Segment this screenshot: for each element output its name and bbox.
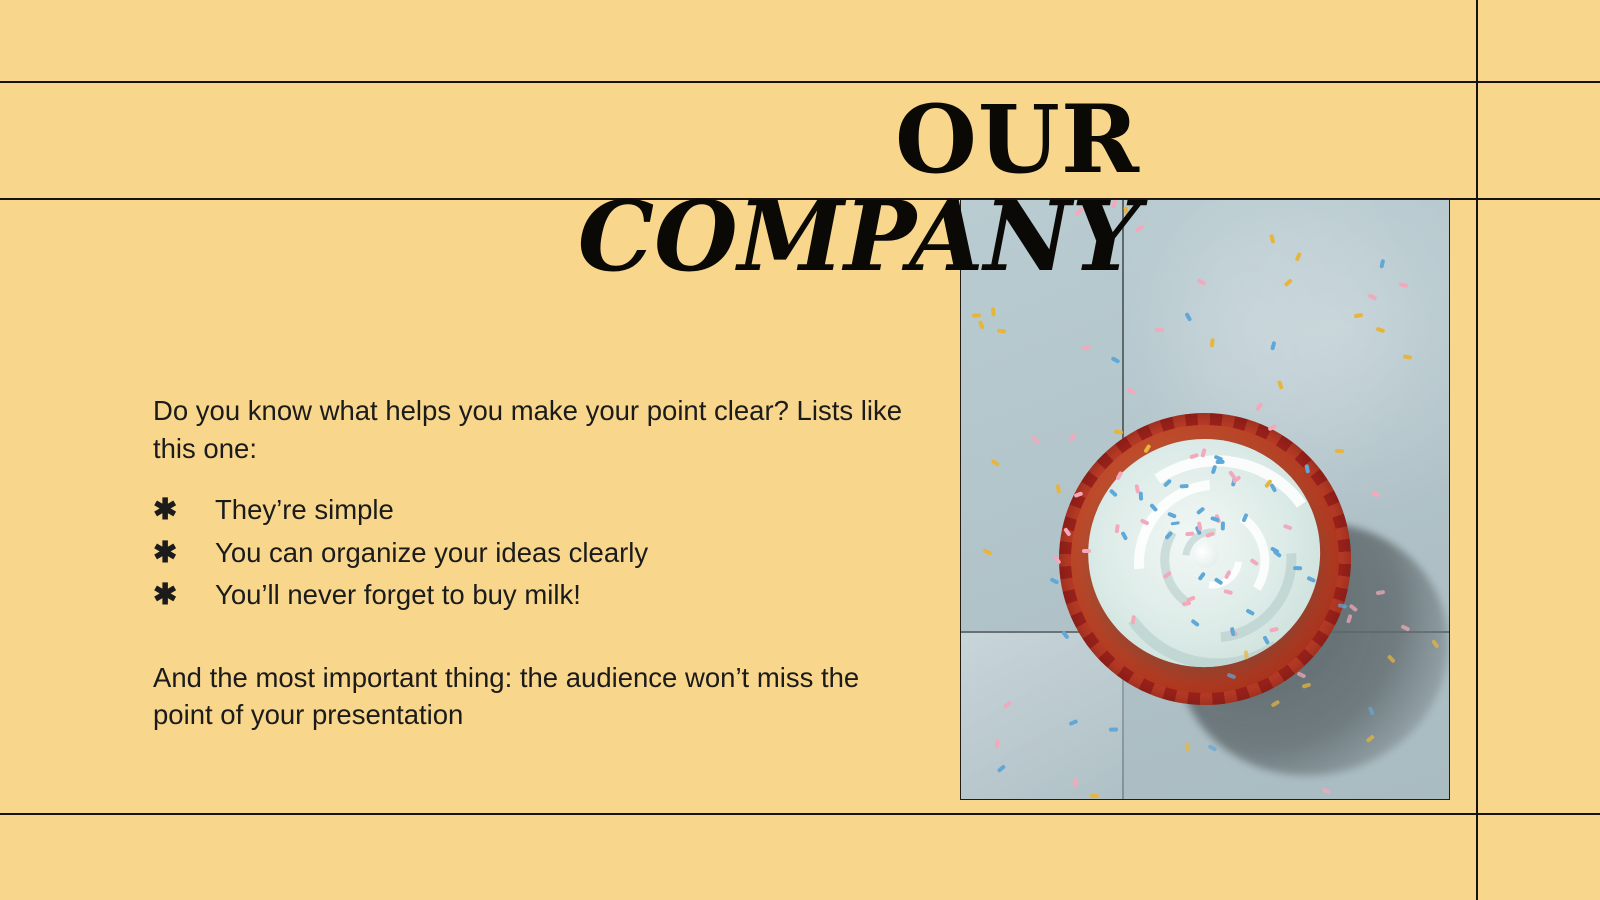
presentation-slide: OUR COMPANY Do you know what helps you m…	[0, 0, 1600, 900]
sprinkle	[1111, 356, 1121, 363]
sprinkle	[1082, 549, 1091, 553]
bullet-label: They’re simple	[215, 491, 913, 529]
sprinkle	[1185, 742, 1190, 751]
frosting-sprinkle	[1221, 521, 1225, 530]
asterisk-icon: ✱	[153, 534, 215, 574]
frosting-sprinkle	[1293, 566, 1302, 570]
bullet-item: ✱You can organize your ideas clearly	[153, 534, 913, 574]
asterisk-icon: ✱	[153, 491, 215, 531]
sprinkle	[991, 307, 996, 316]
sprinkle	[1208, 744, 1218, 752]
cupcake	[1036, 390, 1375, 729]
bullet-item: ✱They’re simple	[153, 491, 913, 531]
bullet-label: You’ll never forget to buy milk!	[215, 576, 913, 614]
sprinkle	[1109, 728, 1118, 732]
title-line-our: OUR	[560, 94, 1140, 187]
bullet-label: You can organize your ideas clearly	[215, 534, 913, 572]
slide-body: Do you know what helps you make your poi…	[153, 392, 913, 734]
horizontal-rule-top	[0, 81, 1600, 83]
bullet-item: ✱You’ll never forget to buy milk!	[153, 576, 913, 616]
sprinkle	[1082, 344, 1092, 350]
asterisk-icon: ✱	[153, 576, 215, 616]
sprinkle	[1335, 449, 1344, 453]
sprinkle	[1090, 794, 1099, 798]
sprinkle	[972, 314, 981, 318]
closing-paragraph: And the most important thing: the audien…	[153, 659, 913, 734]
bullet-list: ✱They’re simple✱You can organize your id…	[153, 491, 913, 615]
title-line-company: COMPANY	[560, 189, 1140, 284]
frosting-sprinkle	[1114, 524, 1119, 533]
sprinkle	[990, 458, 1000, 466]
sprinkle	[1244, 650, 1249, 659]
sprinkle	[997, 329, 1006, 333]
sprinkle	[1321, 788, 1331, 795]
sprinkle	[983, 548, 993, 555]
slide-title: OUR COMPANY	[560, 94, 1140, 284]
frosting-sprinkle	[1180, 484, 1189, 488]
intro-paragraph: Do you know what helps you make your poi…	[153, 392, 913, 467]
horizontal-rule-bottom	[0, 813, 1600, 815]
sprinkle	[978, 320, 985, 330]
vertical-rule-right	[1476, 0, 1478, 900]
